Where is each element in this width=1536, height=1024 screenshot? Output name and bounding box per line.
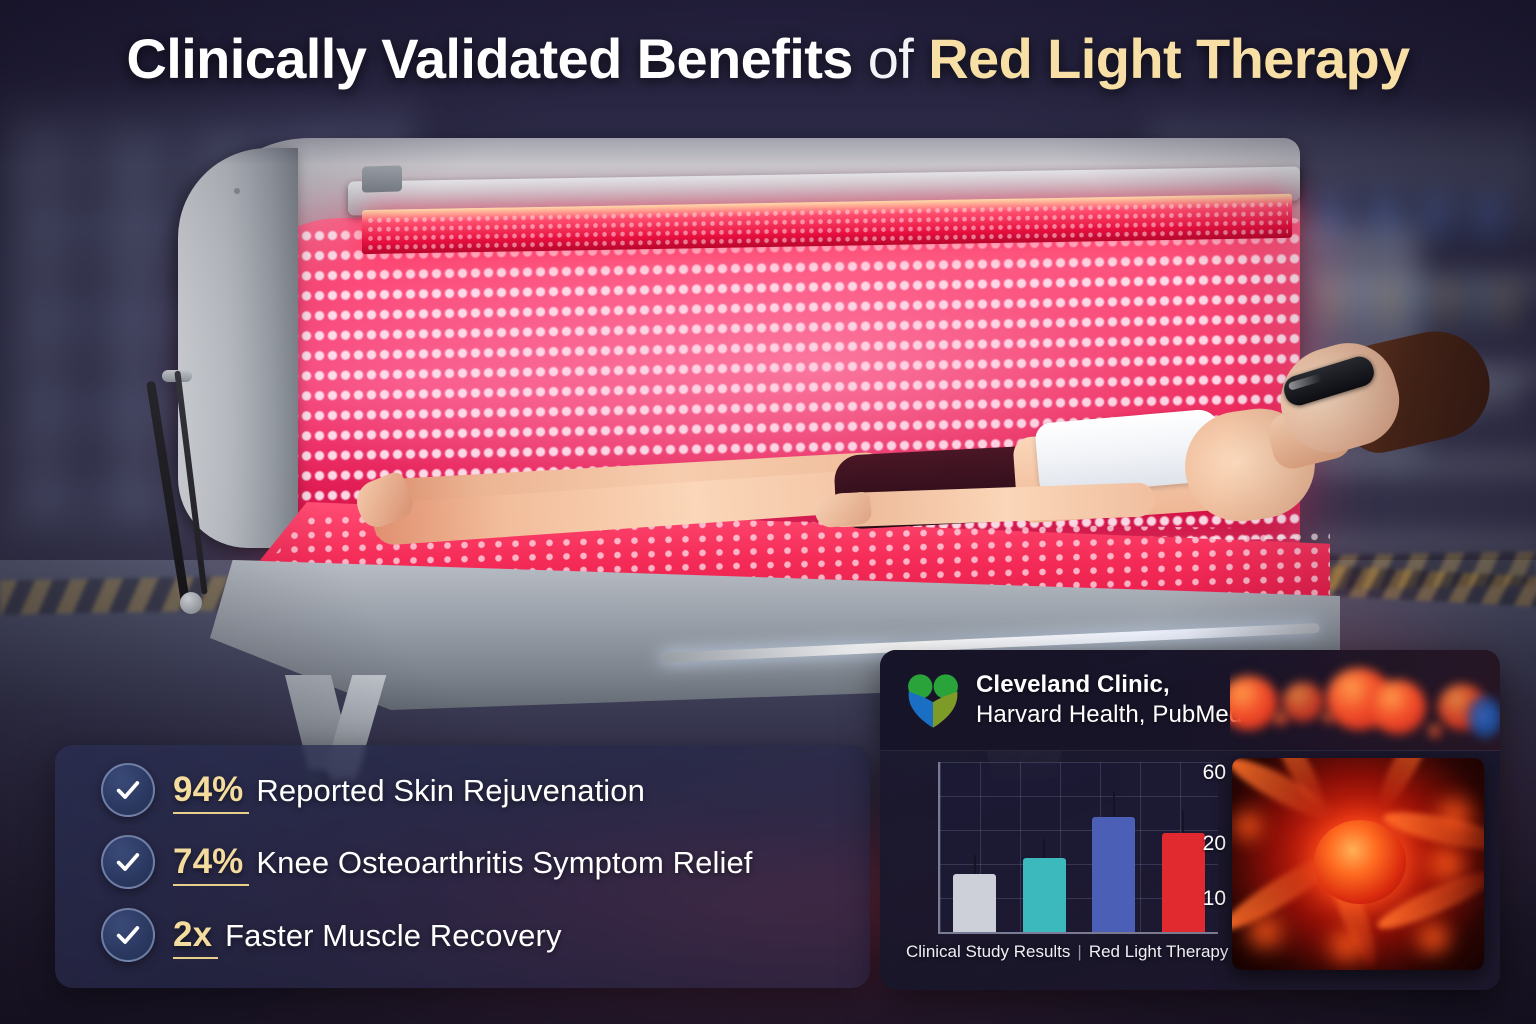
canopy-strut-pivot — [180, 592, 202, 614]
source-line-2: Harvard Health, PubMed — [976, 700, 1242, 730]
infographic-canvas: Clinically Validated Benefits of Red Lig… — [0, 0, 1536, 1024]
chart-y-tick: 10 — [1186, 887, 1226, 911]
patient-figure — [365, 338, 1265, 558]
chart-caption: Clinical Study Results|Red Light Therapy — [906, 942, 1226, 962]
benefit-item-1: 94%Reported Skin Rejuvenation — [101, 763, 645, 817]
benefit-text-1: 94%Reported Skin Rejuvenation — [173, 770, 645, 810]
chart-y-tick: 20 — [1186, 832, 1226, 856]
chart-error-bar — [1113, 792, 1115, 817]
benefit-label-3: Faster Muscle Recovery — [225, 918, 561, 953]
benefit-item-3: 2xFaster Muscle Recovery — [101, 908, 562, 962]
chart-error-bar — [974, 855, 976, 874]
evidence-panel: Cleveland Clinic, Harvard Health, PubMed — [880, 650, 1500, 990]
benefit-text-3: 2xFaster Muscle Recovery — [173, 915, 562, 955]
chart-y-tick: 60 — [1186, 761, 1226, 785]
chart-caption-separator: | — [1070, 942, 1088, 961]
benefits-panel: 94%Reported Skin Rejuvenation 74%Knee Os… — [55, 745, 870, 988]
patient-hand — [813, 491, 872, 529]
chart-plot-area — [938, 762, 1218, 934]
benefit-label-2: Knee Osteoarthritis Symptom Relief — [256, 845, 752, 880]
title-part-one: Clinically Validated Benefits — [126, 27, 852, 90]
check-icon — [101, 763, 155, 817]
title-connector: of — [853, 27, 928, 90]
neuron-cell-image — [1232, 758, 1484, 970]
chart-caption-right: Red Light Therapy — [1089, 942, 1229, 961]
benefit-stat-1: 94% — [173, 770, 249, 814]
canopy-hinge-clip — [362, 165, 402, 192]
cleveland-clinic-logo — [904, 672, 962, 730]
title-highlight: Red Light Therapy — [928, 27, 1409, 90]
benefit-label-1: Reported Skin Rejuvenation — [256, 773, 645, 808]
clinical-results-chart: 602010 Clinical Study Results|Red Light … — [896, 758, 1226, 978]
blood-cell-imagery — [1230, 650, 1500, 750]
neuron-soma — [1314, 820, 1406, 904]
chart-bar — [1092, 817, 1135, 932]
benefit-text-2: 74%Knee Osteoarthritis Symptom Relief — [173, 842, 753, 882]
source-header: Cleveland Clinic, Harvard Health, PubMed — [880, 650, 1500, 751]
benefit-stat-3: 2x — [173, 915, 218, 959]
benefit-item-2: 74%Knee Osteoarthritis Symptom Relief — [101, 835, 753, 889]
page-title: Clinically Validated Benefits of Red Lig… — [0, 26, 1536, 91]
chart-error-bar — [1043, 839, 1045, 858]
chart-error-bar — [1182, 811, 1184, 833]
source-line-1: Cleveland Clinic, — [976, 670, 1242, 700]
benefit-stat-2: 74% — [173, 842, 249, 886]
chart-bar — [1023, 858, 1066, 932]
canopy-front-shell — [178, 148, 298, 548]
chart-caption-left: Clinical Study Results — [906, 942, 1070, 961]
source-text: Cleveland Clinic, Harvard Health, PubMed — [976, 670, 1242, 730]
check-icon — [101, 835, 155, 889]
chart-bar — [953, 874, 996, 932]
check-icon — [101, 908, 155, 962]
